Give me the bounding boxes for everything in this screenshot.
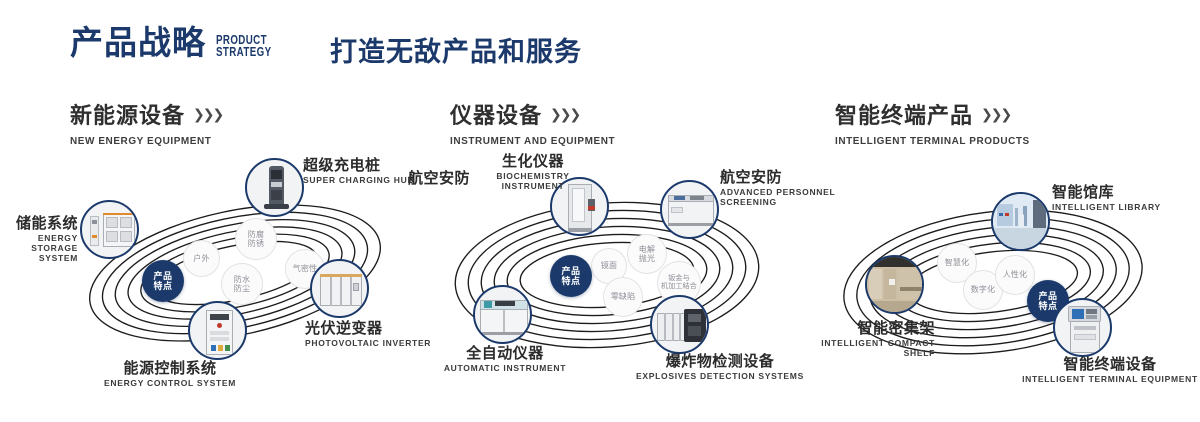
label-cn: 智能馆库: [1052, 184, 1200, 201]
chevrons-icon: ❯❯❯: [193, 106, 222, 123]
label-en: AUTOMATIC INSTRUMENT: [420, 364, 590, 374]
section-title-en: INTELLIGENT TERMINAL PRODUCTS: [835, 135, 1030, 147]
pv-inverter-cabinet-icon: [312, 261, 367, 316]
node-intelligent-compact-shelf[interactable]: [865, 255, 924, 314]
section-title-en: NEW ENERGY EQUIPMENT: [70, 135, 215, 147]
feature-bubble: 零缺陷: [603, 277, 643, 317]
label-energy-storage-system: 储能系统 ENERGY STORAGE SYSTEM: [0, 215, 78, 264]
label-cn: 生化仪器: [483, 153, 583, 170]
chevrons-icon: ❯❯❯: [981, 106, 1010, 123]
product-strategy-infographic: 产品战略 PRODUCT STRATEGY 打造无敌产品和服务 新能源设备❯❯❯…: [0, 0, 1200, 422]
chevrons-icon: ❯❯❯: [550, 106, 579, 123]
node-energy-control-system[interactable]: [188, 301, 247, 360]
label-cn: 能源控制系统: [80, 360, 260, 377]
section-title-new-energy: 新能源设备❯❯❯ NEW ENERGY EQUIPMENT: [70, 98, 222, 147]
section-title-cn: 新能源设备: [70, 98, 185, 130]
section-title-intelligent: 智能终端产品❯❯❯ INTELLIGENT TERMINAL PRODUCTS: [835, 98, 1040, 147]
label-en: INTELLIGENT COMPACT SHELF: [755, 339, 935, 359]
section-title-cn: 智能终端产品: [835, 98, 973, 130]
label-en: INTELLIGENT LIBRARY: [1052, 203, 1200, 213]
label-cn: 储能系统: [0, 215, 78, 232]
library-room-icon: [993, 194, 1048, 249]
core-bubble-product-features: 产品 特点: [550, 255, 592, 297]
label-biochemistry-instrument: 生化仪器 BIOCHEMISTRY INSTRUMENT: [483, 153, 583, 192]
section-title-cn: 仪器设备: [450, 98, 542, 130]
label-cn: 光伏逆变器: [305, 320, 445, 337]
feature-bubble: 防水 防尘: [221, 263, 263, 305]
label-automatic-instrument: 全自动仪器 AUTOMATIC INSTRUMENT: [420, 345, 590, 374]
label-aviation-security-extra: 航空安防: [400, 170, 470, 187]
node-explosives-detection-systems[interactable]: [650, 295, 709, 354]
feature-bubble: 防腐 防锈: [235, 218, 277, 260]
label-en: EXPLOSIVES DETECTION SYSTEMS: [625, 372, 815, 382]
feature-bubble: 户外: [183, 240, 220, 277]
brand-header: 产品战略 PRODUCT STRATEGY: [70, 26, 287, 59]
cluster-intelligent-terminal: 智慧化 数字化 人性化 产品 特点 智能馆库 INTELLIGENT LIBRA…: [815, 160, 1185, 395]
label-cn: 全自动仪器: [420, 345, 590, 362]
terminal-kiosk-icon: [1055, 300, 1110, 355]
compact-shelf-icon: [867, 257, 922, 312]
label-en: INTELLIGENT TERMINAL EQUIPMENT: [1015, 375, 1200, 385]
control-cabinet-icon: [190, 303, 245, 358]
node-energy-storage-system[interactable]: [80, 200, 139, 259]
label-intelligent-library: 智能馆库 INTELLIGENT LIBRARY: [1052, 184, 1200, 213]
charging-pile-icon: [247, 160, 302, 215]
node-super-charging-hub[interactable]: [245, 158, 304, 217]
node-intelligent-library[interactable]: [991, 192, 1050, 251]
automatic-instrument-icon: [475, 287, 530, 342]
node-intelligent-terminal-equipment[interactable]: [1053, 298, 1112, 357]
label-en: BIOCHEMISTRY INSTRUMENT: [483, 172, 583, 192]
label-en: ENERGY CONTROL SYSTEM: [80, 379, 260, 389]
label-cn: 智能密集架: [755, 320, 935, 337]
label-intelligent-compact-shelf: 智能密集架 INTELLIGENT COMPACT SHELF: [755, 320, 935, 359]
feature-bubble: 电解 抛光: [627, 234, 667, 274]
section-title-instrument: 仪器设备❯❯❯ INSTRUMENT AND EQUIPMENT: [450, 98, 624, 147]
cluster-new-energy: 户外 防腐 防锈 防水 防尘 气密性 产品 特点 储能系统 ENERGY STO…: [55, 155, 415, 390]
feature-bubble: 人性化: [995, 255, 1035, 295]
explosives-detector-icon: [652, 297, 707, 352]
label-cn: 智能终端设备: [1015, 356, 1200, 373]
core-bubble-product-features: 产品 特点: [142, 260, 184, 302]
page-headline: 打造无敌产品和服务: [330, 30, 582, 69]
label-intelligent-terminal-equipment: 智能终端设备 INTELLIGENT TERMINAL EQUIPMENT: [1015, 356, 1200, 385]
cluster-instrument: 镜面 电解 抛光 零缺陷 钣金与 机加工结合 产品 特点 航空安防 生化仪器 B…: [425, 155, 795, 395]
label-energy-control-system: 能源控制系统 ENERGY CONTROL SYSTEM: [80, 360, 260, 389]
label-en: ENERGY STORAGE SYSTEM: [0, 234, 78, 263]
node-automatic-instrument[interactable]: [473, 285, 532, 344]
node-photovoltaic-inverter[interactable]: [310, 259, 369, 318]
section-title-en: INSTRUMENT AND EQUIPMENT: [450, 135, 615, 147]
energy-storage-cabinet-icon: [82, 202, 137, 257]
label-cn: 航空安防: [400, 170, 470, 187]
screening-machine-icon: [662, 182, 717, 237]
brand-title-cn: 产品战略: [70, 26, 206, 59]
node-advanced-personnel-screening[interactable]: [660, 180, 719, 239]
brand-title-en: PRODUCT STRATEGY: [216, 34, 271, 58]
